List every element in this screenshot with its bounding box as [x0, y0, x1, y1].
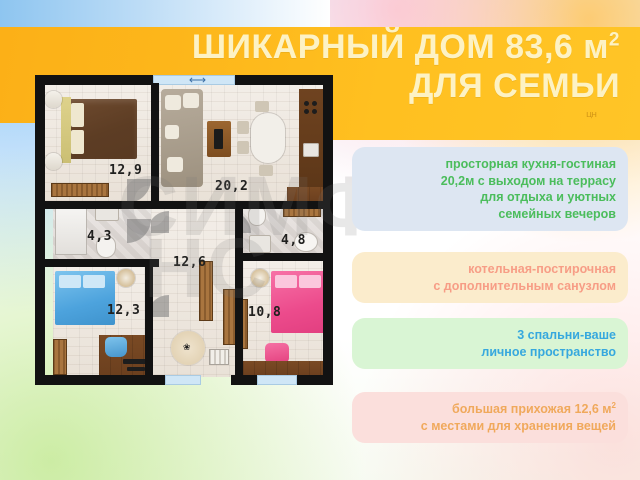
wall-bathroom-main-bottom: [43, 259, 159, 267]
bed-blue-pillow-2: [83, 275, 105, 288]
header-watermark: цн: [586, 110, 596, 120]
callout-2-line-2: с дополнительным санузлом: [364, 278, 616, 295]
wall-vertical-hall-left: [145, 265, 153, 377]
nightstand-top: [45, 91, 62, 108]
desk-keyboard: [123, 359, 147, 364]
callout-4-line-1: большая прихожая 12,6 м2: [364, 401, 616, 418]
nightstand-pink: [251, 269, 269, 287]
bed-blue-pillow-1: [59, 275, 81, 288]
callout-4-line-2: с местами для хранения вещей: [364, 418, 616, 435]
wall-outer-right: [323, 75, 333, 385]
hob-burner-3: [304, 109, 309, 114]
room-label-bedroom-pink: 10,8: [248, 305, 281, 320]
room-label-kitchen-living: 20,2: [215, 179, 248, 194]
dining-table: [251, 113, 285, 163]
door-swing-bathroom-main: [127, 219, 151, 243]
callout-2-line-1: котельная-постирочная: [364, 261, 616, 278]
bathroom-second-washer: [249, 235, 271, 253]
hob-burner-4: [312, 109, 317, 114]
page-title-line1-text: ШИКАРНЫЙ ДОМ 83,6 м: [192, 28, 609, 66]
wall-living-bottom: [159, 201, 331, 209]
bed-bench: [61, 97, 71, 163]
nightstand-bottom: [45, 153, 62, 170]
callout-3-line-1: 3 спальни-ваше: [364, 327, 616, 344]
bed-pink-pillow-1: [275, 275, 297, 288]
hallway-wardrobe-1: [199, 261, 213, 321]
wall-outer-left: [35, 75, 45, 385]
sofa-cushion-3: [165, 125, 179, 139]
shower-cabin: [55, 207, 87, 255]
dining-chair-4: [237, 141, 249, 154]
dining-chair-3: [237, 121, 249, 134]
entry-rug: ❀: [171, 331, 205, 365]
room-label-bathroom-second: 4,8: [281, 233, 306, 248]
callout-1-line-3: для отдыха и уютных: [364, 189, 616, 206]
wall-vertical-pink: [235, 259, 243, 381]
room-label-bathroom-main: 4,3: [87, 229, 112, 244]
armchair-blue: [105, 337, 127, 357]
page-title-superscript: 2: [609, 30, 620, 51]
room-hallway: ❀: [151, 203, 243, 377]
page-title-line1: ШИКАРНЫЙ ДОМ 83,6 м2: [120, 28, 620, 67]
bathroom-second-toilet: [249, 207, 265, 225]
callout-hallway: большая прихожая 12,6 м2 с местами для х…: [352, 392, 628, 443]
callout-1-line-2: 20,2м с выходом на террасу: [364, 173, 616, 190]
hallway-radiator: [209, 349, 229, 365]
window-bottom-pink: [257, 375, 297, 385]
callout-bedrooms: 3 спальни-ваше личное пространство: [352, 318, 628, 369]
callout-1-line-1: просторная кухня-гостиная: [364, 156, 616, 173]
door-swing-bedroom-main: [127, 179, 151, 203]
paw-print-icon: ❀: [183, 343, 191, 352]
wall-bedroom-main-bottom: [43, 201, 159, 209]
callout-kitchen-living: просторная кухня-гостиная 20,2м с выходо…: [352, 147, 628, 231]
kitchen-sink: [303, 143, 319, 157]
page-title-line2: ДЛЯ СЕМЬИ: [120, 67, 620, 106]
room-label-hallway: 12,6: [173, 255, 206, 270]
room-label-bedroom-main: 12,9: [109, 163, 142, 178]
floor-plan: ❀ ⟷ 12,9 20,2 4,3 12,3 1: [35, 75, 335, 385]
tv-unit: [214, 129, 223, 149]
window-bottom-hall: [165, 375, 201, 385]
dining-chair-2: [259, 165, 273, 176]
room-label-bedroom-blue: 12,3: [107, 303, 140, 318]
callout-3-line-2: личное пространство: [364, 344, 616, 361]
wall-bathroom-second-bottom: [235, 253, 331, 261]
door-swing-hallway-left: [151, 211, 169, 233]
bed-pink-pillow-2: [299, 275, 321, 288]
desk-monitor: [127, 367, 145, 371]
callout-boiler-laundry: котельная-постирочная с дополнительным с…: [352, 252, 628, 303]
wardrobe-bedroom-blue: [53, 339, 67, 375]
door-swing-hallway-bedroom: [151, 295, 169, 317]
callout-4-superscript: 2: [612, 401, 616, 410]
callout-1-line-4: семейных вечеров: [364, 206, 616, 223]
wall-vertical-right-mid: [235, 201, 243, 261]
nightstand-blue: [117, 269, 135, 287]
armchair-pink: [265, 343, 289, 363]
sofa-cushion-4: [167, 157, 183, 172]
room-bedroom-blue: [53, 265, 151, 377]
bed-pillow-right: [71, 130, 84, 154]
bed-pillow-left: [71, 103, 84, 127]
wardrobe-bedroom-main: [51, 183, 109, 197]
page-title: ШИКАРНЫЙ ДОМ 83,6 м2 ДЛЯ СЕМЬИ: [120, 28, 620, 106]
callout-4-line-1-text: большая прихожая 12,6 м: [452, 402, 612, 416]
